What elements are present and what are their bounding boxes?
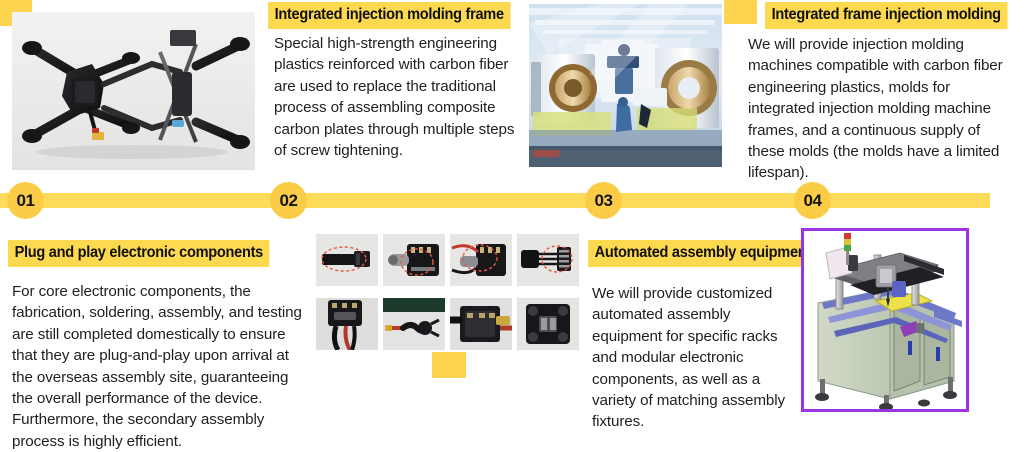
section-4-title-wrap: Automated assembly equipment: [588, 240, 832, 267]
timeline-node-01[interactable]: 01: [7, 182, 44, 219]
timeline-node-02[interactable]: 02: [270, 182, 307, 219]
thumb-3: [450, 234, 512, 286]
timeline-node-04-label: 04: [804, 191, 822, 211]
timeline-node-03-label: 03: [595, 191, 613, 211]
slide-canvas: Integrated injection molding frame Speci…: [0, 0, 1024, 443]
thumb-8: [517, 298, 579, 350]
section-1-title: Integrated injection molding frame: [268, 2, 510, 29]
section-3-title-wrap: Plug and play electronic components: [8, 240, 286, 267]
thumb-6: [383, 298, 445, 350]
injection-molding-machine-photo: [529, 4, 722, 167]
section-2-body: We will provide injection molding machin…: [748, 34, 1010, 184]
thumb-7: [450, 298, 512, 350]
section-4-title: Automated assembly equipment: [588, 240, 818, 267]
section-3-body: For core electronic components, the fabr…: [12, 281, 308, 452]
electronic-components-photo-grid: [316, 234, 580, 354]
section-2-title: Integrated frame injection molding: [765, 2, 1007, 29]
drone-frame-photo: [12, 12, 255, 170]
automated-assembly-machine-render: [801, 228, 969, 412]
accent-square-top-right: [724, 0, 757, 24]
accent-square-mid-grid: [432, 352, 466, 378]
section-1-title-wrap: Integrated injection molding frame: [268, 2, 526, 29]
section-3-title: Plug and play electronic components: [8, 240, 270, 267]
section-2-title-wrap: Integrated frame injection molding: [765, 2, 1023, 29]
section-1-body: Special high-strength engineering plasti…: [274, 33, 516, 161]
timeline-bar: [0, 193, 990, 208]
timeline-node-04[interactable]: 04: [794, 182, 831, 219]
thumb-5: [316, 298, 378, 350]
thumb-4: [517, 234, 579, 286]
timeline-node-01-label: 01: [17, 191, 35, 211]
timeline-node-03[interactable]: 03: [585, 182, 622, 219]
thumb-1: [316, 234, 378, 286]
thumb-2: [383, 234, 445, 286]
section-4-body: We will provide customized automated ass…: [592, 283, 792, 433]
timeline-node-02-label: 02: [280, 191, 298, 211]
